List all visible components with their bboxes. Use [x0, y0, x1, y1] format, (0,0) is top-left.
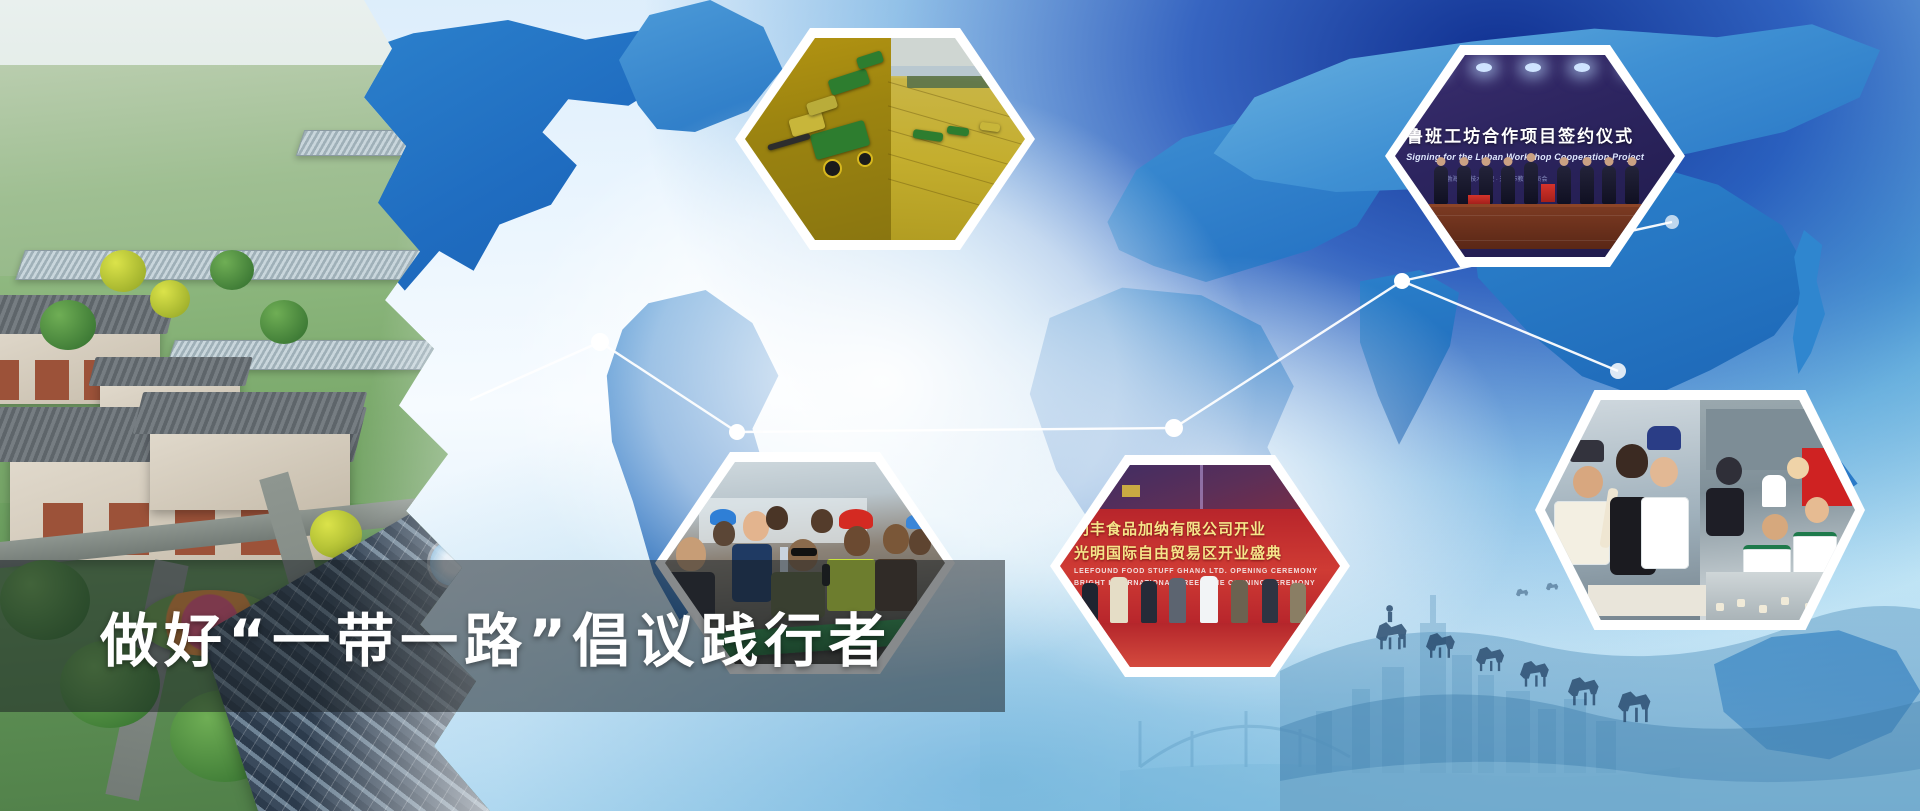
food-banner-cn-1: 利丰食品加纳有限公司开业 [1074, 518, 1332, 539]
dumpling [1737, 599, 1745, 607]
kitchen-person-head [1716, 457, 1742, 485]
kitchen-person-body [1706, 488, 1744, 536]
food-banner-en-1: LEEFOUND FOOD STUFF GHANA LTD. OPENING C… [1074, 568, 1337, 575]
flag-icon [1122, 485, 1140, 497]
dumpling [1805, 603, 1813, 611]
attendee [1262, 579, 1278, 623]
chef-cap-dark [1570, 440, 1604, 462]
banner-stage: 鲁班工坊合作项目签约仪式 Signing for the Luban Works… [0, 0, 1920, 811]
signing-table [1423, 204, 1647, 248]
attendee [1110, 577, 1128, 623]
caption-overlay-bar: 做好“一带一路”倡议践行者 [0, 560, 1005, 712]
banner-caption: 做好“一带一路”倡议践行者 [100, 594, 892, 678]
flour-board [1588, 585, 1712, 616]
attendee [1200, 576, 1218, 623]
attendee [1290, 583, 1306, 623]
dumpling [1716, 603, 1724, 611]
attendee [1231, 580, 1248, 623]
student-hair [1616, 444, 1648, 478]
attendee [1141, 581, 1157, 623]
dumpling [1759, 605, 1767, 613]
luban-banner-cn: 鲁班工坊合作项目签约仪式 [1406, 122, 1664, 147]
dumpling [1781, 597, 1789, 605]
sunglasses-icon [791, 548, 817, 556]
chef-cap-blue [1647, 426, 1681, 450]
toque-icon [1762, 475, 1786, 507]
student-coat [1641, 497, 1689, 569]
stage-lights [1412, 63, 1658, 91]
attendee [1082, 583, 1098, 623]
food-banner-cn-2: 光明国际自由贸易区开业盛典 [1074, 542, 1332, 563]
photo-hex-culinary-training[interactable] [1535, 390, 1865, 630]
attendee [1169, 578, 1186, 623]
chef-face [1573, 466, 1603, 498]
